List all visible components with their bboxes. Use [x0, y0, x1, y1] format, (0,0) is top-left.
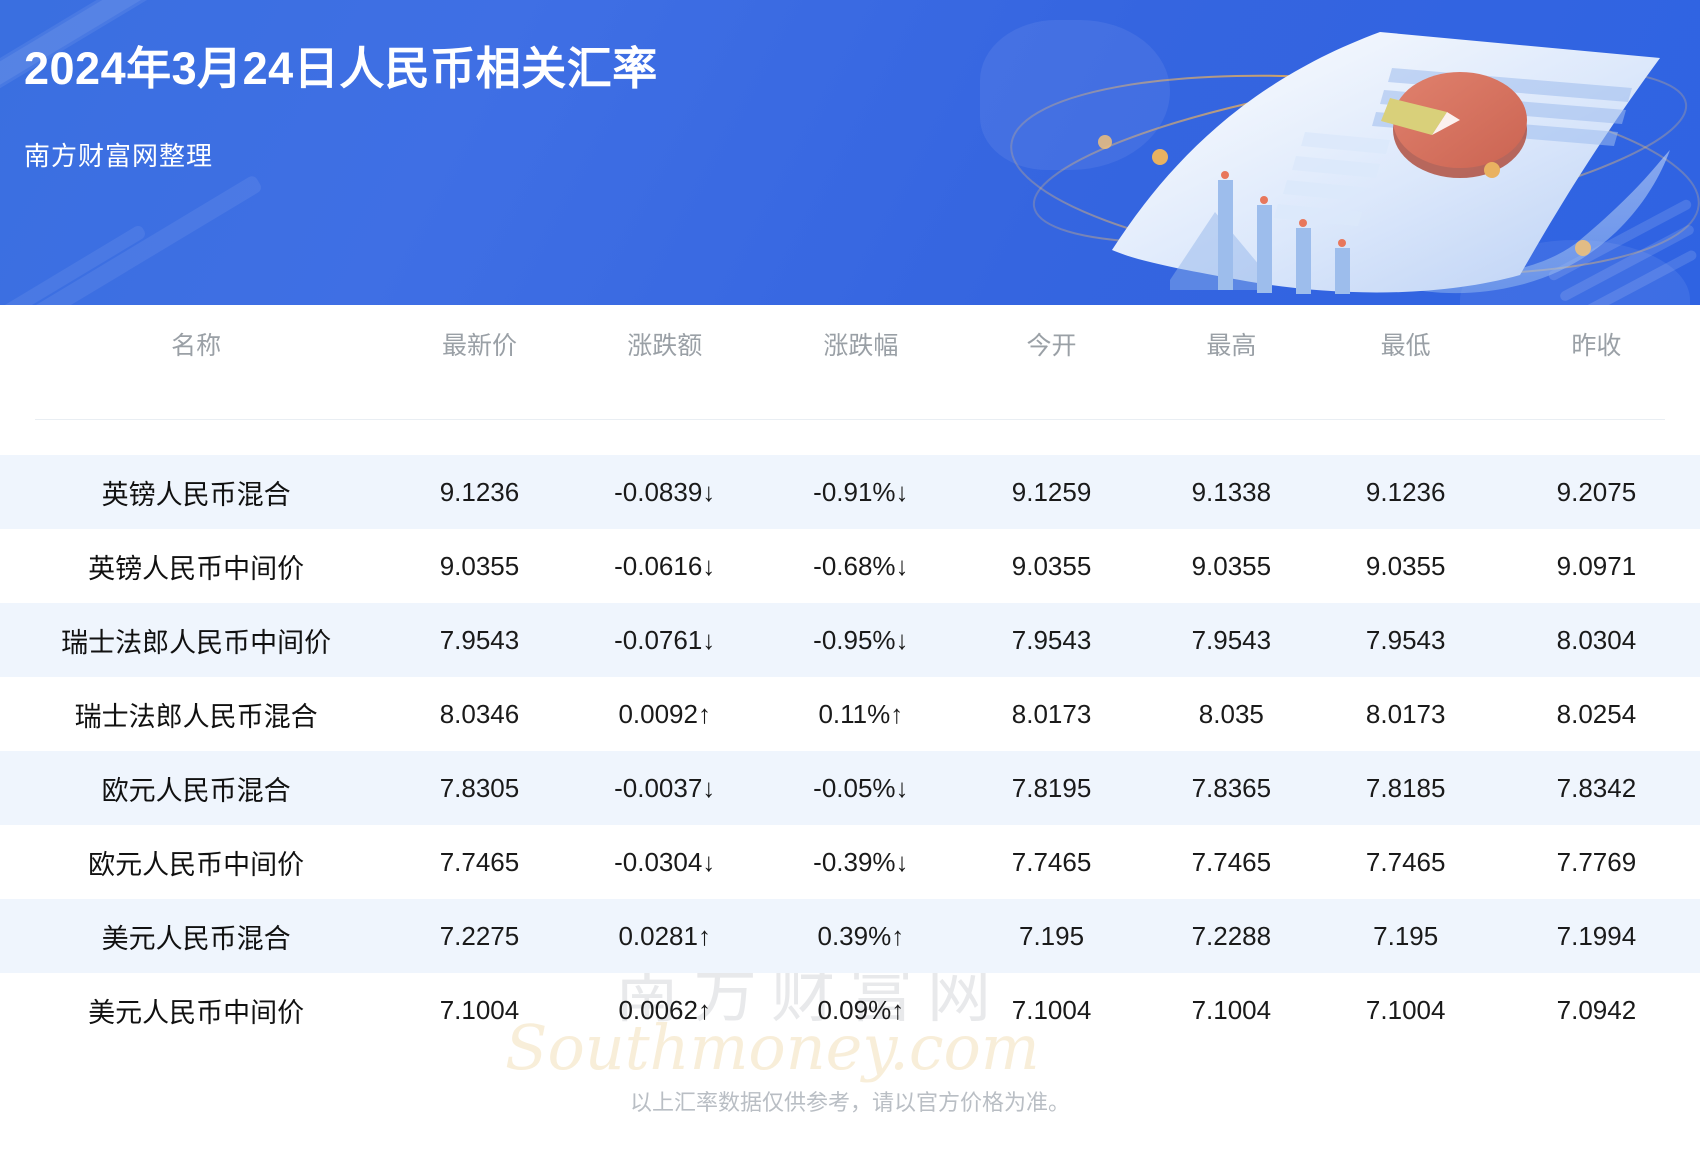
cell-low: 7.7465	[1319, 825, 1493, 899]
cell-low: 7.8185	[1319, 751, 1493, 825]
cell-name: 瑞士法郎人民币混合	[0, 677, 392, 751]
disclaimer-note: 以上汇率数据仅供参考，请以官方价格为准。	[0, 1085, 1700, 1117]
banner-blob-1	[980, 20, 1170, 170]
table-body: 英镑人民币混合9.1236-0.0839↓-0.91%↓9.12599.1338…	[0, 455, 1700, 1047]
table-header-row: 名称 最新价 涨跌额 涨跌幅 今开 最高 最低 昨收	[0, 305, 1700, 383]
col-header-high[interactable]: 最高	[1144, 305, 1318, 383]
orbit-bead	[1098, 135, 1591, 256]
page-subtitle: 南方财富网整理	[24, 136, 658, 173]
rates-table-section: 南方财富网 Southmoney.com 名称 最新价 涨跌额 涨跌幅 今开 最…	[0, 305, 1700, 1117]
cell-change: -0.0616↓	[567, 529, 763, 603]
cell-high: 8.035	[1144, 677, 1318, 751]
cell-name: 美元人民币中间价	[0, 973, 392, 1047]
table-row[interactable]: 美元人民币混合7.22750.0281↑0.39%↑7.1957.22887.1…	[0, 899, 1700, 973]
cell-last-price: 8.0346	[392, 677, 566, 751]
cell-change: 0.0062↑	[567, 973, 763, 1047]
col-header-low[interactable]: 最低	[1319, 305, 1493, 383]
cell-change: -0.0761↓	[567, 603, 763, 677]
page-banner: 2024年3月24日人民币相关汇率 南方财富网整理	[0, 0, 1700, 305]
cell-change: -0.0037↓	[567, 751, 763, 825]
cell-high: 9.1338	[1144, 455, 1318, 529]
cell-name: 欧元人民币混合	[0, 751, 392, 825]
cell-change: 0.0092↑	[567, 677, 763, 751]
cell-last-price: 7.2275	[392, 899, 566, 973]
cell-prev-close: 9.2075	[1493, 455, 1700, 529]
cell-open: 7.1004	[959, 973, 1144, 1047]
table-header-rule	[0, 383, 1700, 455]
cell-high: 7.9543	[1144, 603, 1318, 677]
cell-prev-close: 9.0971	[1493, 529, 1700, 603]
cell-prev-close: 7.7769	[1493, 825, 1700, 899]
cell-high: 9.0355	[1144, 529, 1318, 603]
cell-change: -0.0304↓	[567, 825, 763, 899]
cell-prev-close: 8.0254	[1493, 677, 1700, 751]
cell-last-price: 7.1004	[392, 973, 566, 1047]
cell-prev-close: 7.0942	[1493, 973, 1700, 1047]
col-header-prev-close[interactable]: 昨收	[1493, 305, 1700, 383]
cell-last-price: 7.9543	[392, 603, 566, 677]
cell-prev-close: 7.8342	[1493, 751, 1700, 825]
cell-change-pct: -0.39%↓	[763, 825, 959, 899]
cell-prev-close: 7.1994	[1493, 899, 1700, 973]
cell-name: 英镑人民币中间价	[0, 529, 392, 603]
cell-change-pct: 0.39%↑	[763, 899, 959, 973]
cell-change-pct: 0.11%↑	[763, 677, 959, 751]
col-header-change-pct[interactable]: 涨跌幅	[763, 305, 959, 383]
page-title: 2024年3月24日人民币相关汇率	[24, 44, 658, 94]
cell-change-pct: -0.95%↓	[763, 603, 959, 677]
table-row[interactable]: 欧元人民币混合7.8305-0.0037↓-0.05%↓7.81957.8365…	[0, 751, 1700, 825]
table-row[interactable]: 英镑人民币混合9.1236-0.0839↓-0.91%↓9.12599.1338…	[0, 455, 1700, 529]
cell-open: 9.0355	[959, 529, 1144, 603]
header-divider	[0, 383, 1700, 455]
cell-change: 0.0281↑	[567, 899, 763, 973]
cell-open: 7.7465	[959, 825, 1144, 899]
cell-low: 7.195	[1319, 899, 1493, 973]
cell-name: 欧元人民币中间价	[0, 825, 392, 899]
exchange-rates-table: 名称 最新价 涨跌额 涨跌幅 今开 最高 最低 昨收 英镑人民币混合9.1236…	[0, 305, 1700, 1047]
col-header-last[interactable]: 最新价	[392, 305, 566, 383]
banner-text-block: 2024年3月24日人民币相关汇率 南方财富网整理	[24, 44, 658, 173]
cell-name: 瑞士法郎人民币中间价	[0, 603, 392, 677]
cell-open: 7.195	[959, 899, 1144, 973]
cell-high: 7.1004	[1144, 973, 1318, 1047]
cell-open: 7.9543	[959, 603, 1144, 677]
cell-change: -0.0839↓	[567, 455, 763, 529]
table-row[interactable]: 欧元人民币中间价7.7465-0.0304↓-0.39%↓7.74657.746…	[0, 825, 1700, 899]
cell-low: 7.9543	[1319, 603, 1493, 677]
cell-low: 9.1236	[1319, 455, 1493, 529]
cell-change-pct: -0.68%↓	[763, 529, 959, 603]
cell-last-price: 9.1236	[392, 455, 566, 529]
cell-prev-close: 8.0304	[1493, 603, 1700, 677]
cell-change-pct: 0.09%↑	[763, 973, 959, 1047]
cell-high: 7.7465	[1144, 825, 1318, 899]
cell-open: 8.0173	[959, 677, 1144, 751]
table-head: 名称 最新价 涨跌额 涨跌幅 今开 最高 最低 昨收	[0, 305, 1700, 455]
cell-open: 7.8195	[959, 751, 1144, 825]
cell-last-price: 7.8305	[392, 751, 566, 825]
cell-name: 美元人民币混合	[0, 899, 392, 973]
cell-low: 8.0173	[1319, 677, 1493, 751]
cell-last-price: 9.0355	[392, 529, 566, 603]
cell-change-pct: -0.05%↓	[763, 751, 959, 825]
cell-high: 7.8365	[1144, 751, 1318, 825]
col-header-name[interactable]: 名称	[0, 305, 392, 383]
table-row[interactable]: 瑞士法郎人民币混合8.03460.0092↑0.11%↑8.01738.0358…	[0, 677, 1700, 751]
table-row[interactable]: 英镑人民币中间价9.0355-0.0616↓-0.68%↓9.03559.035…	[0, 529, 1700, 603]
col-header-open[interactable]: 今开	[959, 305, 1144, 383]
cell-change-pct: -0.91%↓	[763, 455, 959, 529]
cell-name: 英镑人民币混合	[0, 455, 392, 529]
table-row[interactable]: 美元人民币中间价7.10040.0062↑0.09%↑7.10047.10047…	[0, 973, 1700, 1047]
cell-low: 7.1004	[1319, 973, 1493, 1047]
table-row[interactable]: 瑞士法郎人民币中间价7.9543-0.0761↓-0.95%↓7.95437.9…	[0, 603, 1700, 677]
cell-low: 9.0355	[1319, 529, 1493, 603]
cell-high: 7.2288	[1144, 899, 1318, 973]
cell-open: 9.1259	[959, 455, 1144, 529]
col-header-change[interactable]: 涨跌额	[567, 305, 763, 383]
cell-last-price: 7.7465	[392, 825, 566, 899]
